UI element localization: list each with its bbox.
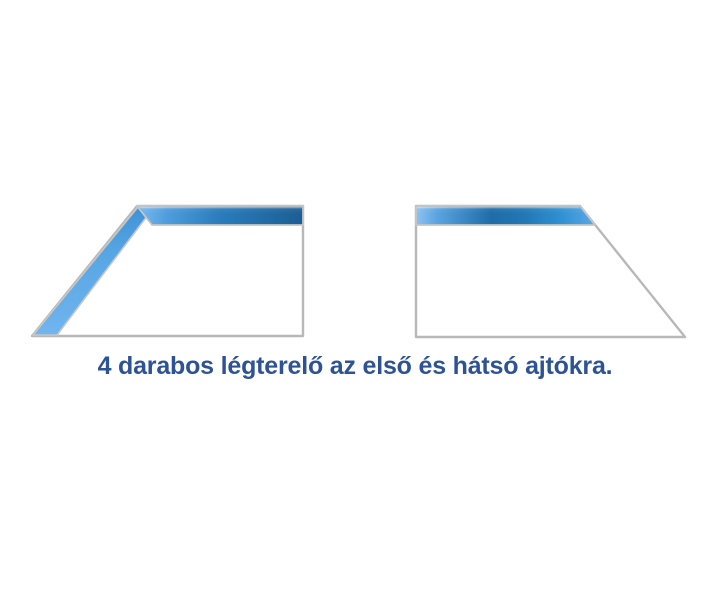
- wind-deflector-diagram: [0, 0, 710, 350]
- front-deflector-top-sheen: [139, 207, 302, 214]
- front-door-window: [32, 206, 303, 336]
- rear-deflector-top-sheen: [417, 207, 586, 214]
- caption-text: 4 darabos légterelő az első és hátsó ajt…: [0, 352, 710, 381]
- illustration-page: 4 darabos légterelő az első és hátsó ajt…: [0, 0, 710, 613]
- rear-door-window: [416, 206, 685, 337]
